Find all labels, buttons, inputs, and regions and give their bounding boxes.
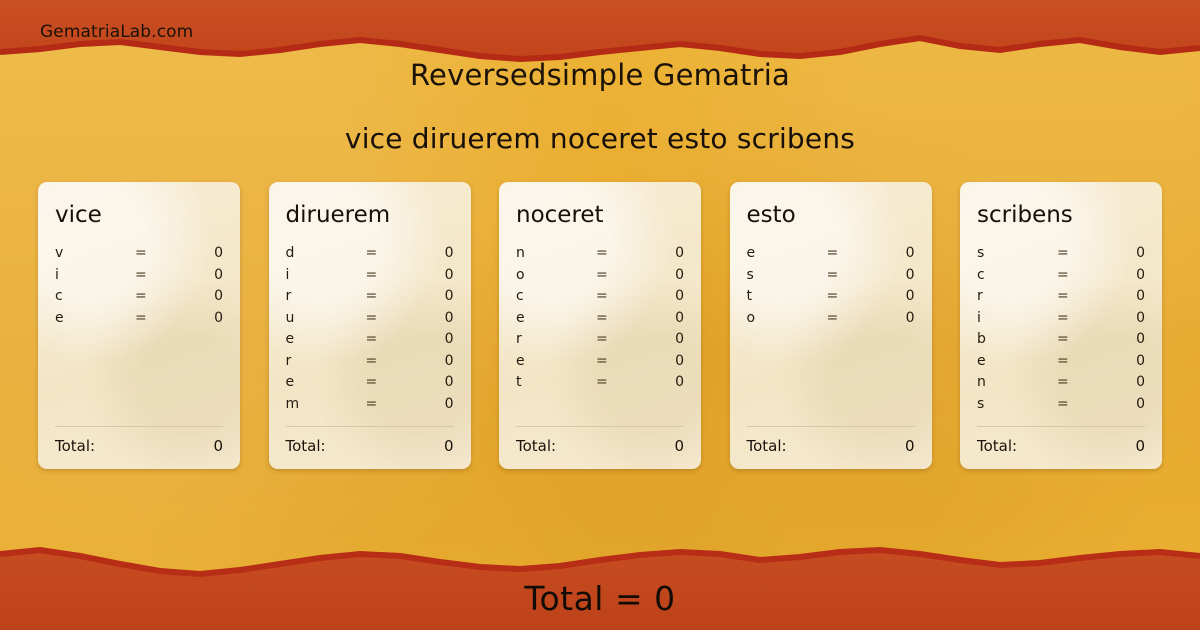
letter-char: r — [286, 288, 366, 304]
letter-value: 0 — [189, 288, 223, 304]
letter-char: c — [516, 288, 596, 304]
word-card-footer: Total:0 — [977, 426, 1145, 455]
equals-sign: = — [827, 310, 881, 326]
card-divider — [286, 426, 454, 427]
letter-char: o — [747, 310, 827, 326]
letter-value: 0 — [420, 353, 454, 369]
letter-value-row: m=0 — [286, 396, 454, 418]
letter-value-row: r=0 — [286, 288, 454, 310]
letter-char: i — [977, 310, 1057, 326]
equals-sign: = — [827, 245, 881, 261]
equals-sign: = — [596, 245, 650, 261]
card-total-label: Total: — [516, 437, 556, 455]
letter-value: 0 — [1111, 267, 1145, 283]
card-total-label: Total: — [55, 437, 95, 455]
equals-sign: = — [1057, 374, 1111, 390]
word-card-title: scribens — [977, 204, 1145, 227]
letter-value: 0 — [650, 267, 684, 283]
phrase-heading: vice diruerem noceret esto scribens — [0, 122, 1200, 155]
card-total-value: 0 — [905, 437, 915, 455]
letter-value-list: n=0o=0c=0e=0r=0e=0t=0 — [516, 245, 684, 396]
equals-sign: = — [596, 353, 650, 369]
letter-value-row: t=0 — [516, 374, 684, 396]
letter-char: r — [977, 288, 1057, 304]
site-logo[interactable]: GematriaLab.com — [40, 22, 193, 42]
letter-value-row: r=0 — [516, 331, 684, 353]
equals-sign: = — [596, 288, 650, 304]
letter-value: 0 — [650, 331, 684, 347]
letter-value-row: e=0 — [516, 353, 684, 375]
letter-value-row: r=0 — [286, 353, 454, 375]
card-divider — [747, 426, 915, 427]
equals-sign: = — [1057, 396, 1111, 412]
letter-value-row: c=0 — [977, 267, 1145, 289]
letter-value-row: c=0 — [516, 288, 684, 310]
card-total-label: Total: — [747, 437, 787, 455]
card-total-value: 0 — [444, 437, 454, 455]
gematria-result-card: GematriaLab.com Reversedsimple Gematria … — [0, 0, 1200, 630]
letter-value-row: o=0 — [516, 267, 684, 289]
equals-sign: = — [827, 288, 881, 304]
equals-sign: = — [366, 353, 420, 369]
letter-value: 0 — [420, 245, 454, 261]
letter-value-row: b=0 — [977, 331, 1145, 353]
letter-value: 0 — [420, 267, 454, 283]
letter-char: v — [55, 245, 135, 261]
equals-sign: = — [596, 374, 650, 390]
letter-char: c — [977, 267, 1057, 283]
letter-value-row: n=0 — [977, 374, 1145, 396]
card-total-row: Total:0 — [977, 437, 1145, 455]
letter-value-row: e=0 — [286, 374, 454, 396]
letter-value: 0 — [1111, 396, 1145, 412]
word-card-footer: Total:0 — [286, 426, 454, 455]
word-card: vicev=0i=0c=0e=0Total:0 — [38, 182, 240, 469]
card-total-row: Total:0 — [516, 437, 684, 455]
equals-sign: = — [366, 310, 420, 326]
letter-char: d — [286, 245, 366, 261]
letter-char: b — [977, 331, 1057, 347]
letter-char: e — [286, 374, 366, 390]
letter-char: e — [747, 245, 827, 261]
letter-char: e — [516, 310, 596, 326]
word-card: dirueremd=0i=0r=0u=0e=0r=0e=0m=0Total:0 — [269, 182, 471, 469]
letter-value: 0 — [650, 288, 684, 304]
letter-char: n — [977, 374, 1057, 390]
letter-char: e — [286, 331, 366, 347]
letter-value-row: s=0 — [977, 396, 1145, 418]
card-total-value: 0 — [213, 437, 223, 455]
letter-char: t — [516, 374, 596, 390]
equals-sign: = — [1057, 288, 1111, 304]
equals-sign: = — [366, 267, 420, 283]
letter-value-list: v=0i=0c=0e=0 — [55, 245, 223, 331]
letter-value-row: e=0 — [55, 310, 223, 332]
letter-value: 0 — [881, 245, 915, 261]
letter-value-row: e=0 — [286, 331, 454, 353]
equals-sign: = — [1057, 310, 1111, 326]
card-total-value: 0 — [674, 437, 684, 455]
card-total-row: Total:0 — [747, 437, 915, 455]
letter-value: 0 — [420, 396, 454, 412]
letter-value: 0 — [650, 353, 684, 369]
letter-value: 0 — [189, 310, 223, 326]
letter-char: m — [286, 396, 366, 412]
card-divider — [516, 426, 684, 427]
letter-value-list: s=0c=0r=0i=0b=0e=0n=0s=0 — [977, 245, 1145, 417]
letter-value-row: u=0 — [286, 310, 454, 332]
letter-value: 0 — [1111, 310, 1145, 326]
letter-value: 0 — [1111, 288, 1145, 304]
equals-sign: = — [1057, 245, 1111, 261]
letter-char: n — [516, 245, 596, 261]
letter-value: 0 — [189, 267, 223, 283]
equals-sign: = — [1057, 267, 1111, 283]
letter-char: s — [977, 396, 1057, 412]
letter-char: r — [286, 353, 366, 369]
word-card-footer: Total:0 — [516, 426, 684, 455]
word-card-title: diruerem — [286, 204, 454, 227]
letter-char: s — [747, 267, 827, 283]
page-title: Reversedsimple Gematria — [0, 58, 1200, 92]
card-total-label: Total: — [286, 437, 326, 455]
letter-char: c — [55, 288, 135, 304]
card-total-row: Total:0 — [286, 437, 454, 455]
letter-value: 0 — [1111, 331, 1145, 347]
equals-sign: = — [596, 267, 650, 283]
card-divider — [55, 426, 223, 427]
equals-sign: = — [366, 288, 420, 304]
letter-value: 0 — [650, 374, 684, 390]
equals-sign: = — [596, 310, 650, 326]
equals-sign: = — [1057, 353, 1111, 369]
equals-sign: = — [366, 245, 420, 261]
letter-value: 0 — [650, 310, 684, 326]
letter-value-row: o=0 — [747, 310, 915, 332]
equals-sign: = — [135, 288, 189, 304]
equals-sign: = — [135, 267, 189, 283]
equals-sign: = — [1057, 331, 1111, 347]
letter-value-row: t=0 — [747, 288, 915, 310]
equals-sign: = — [827, 267, 881, 283]
letter-char: e — [977, 353, 1057, 369]
letter-value-row: e=0 — [747, 245, 915, 267]
word-card: scribenss=0c=0r=0i=0b=0e=0n=0s=0Total:0 — [960, 182, 1162, 469]
letter-value-row: s=0 — [747, 267, 915, 289]
letter-char: e — [516, 353, 596, 369]
letter-value-list: d=0i=0r=0u=0e=0r=0e=0m=0 — [286, 245, 454, 417]
card-total-label: Total: — [977, 437, 1017, 455]
letter-char: o — [516, 267, 596, 283]
word-card-title: noceret — [516, 204, 684, 227]
word-card-list: vicev=0i=0c=0e=0Total:0dirueremd=0i=0r=0… — [38, 182, 1162, 469]
equals-sign: = — [366, 396, 420, 412]
letter-value: 0 — [881, 310, 915, 326]
card-total-row: Total:0 — [55, 437, 223, 455]
word-card-title: vice — [55, 204, 223, 227]
word-card-title: esto — [747, 204, 915, 227]
letter-value-row: d=0 — [286, 245, 454, 267]
equals-sign: = — [135, 245, 189, 261]
letter-char: t — [747, 288, 827, 304]
equals-sign: = — [135, 310, 189, 326]
word-card-footer: Total:0 — [55, 426, 223, 455]
letter-char: e — [55, 310, 135, 326]
letter-value-row: v=0 — [55, 245, 223, 267]
letter-char: s — [977, 245, 1057, 261]
letter-value: 0 — [1111, 374, 1145, 390]
letter-value-row: e=0 — [516, 310, 684, 332]
letter-value-row: r=0 — [977, 288, 1145, 310]
equals-sign: = — [366, 331, 420, 347]
card-total-value: 0 — [1135, 437, 1145, 455]
letter-value-row: i=0 — [55, 267, 223, 289]
letter-char: u — [286, 310, 366, 326]
equals-sign: = — [366, 374, 420, 390]
letter-char: i — [286, 267, 366, 283]
letter-value: 0 — [420, 374, 454, 390]
letter-value-row: e=0 — [977, 353, 1145, 375]
letter-value: 0 — [420, 288, 454, 304]
word-card: noceretn=0o=0c=0e=0r=0e=0t=0Total:0 — [499, 182, 701, 469]
letter-value-row: n=0 — [516, 245, 684, 267]
letter-value-row: i=0 — [977, 310, 1145, 332]
letter-value: 0 — [1111, 353, 1145, 369]
grand-total: Total = 0 — [0, 579, 1200, 618]
letter-value-row: s=0 — [977, 245, 1145, 267]
letter-value-row: c=0 — [55, 288, 223, 310]
letter-value: 0 — [650, 245, 684, 261]
letter-value: 0 — [1111, 245, 1145, 261]
letter-value: 0 — [189, 245, 223, 261]
word-card-footer: Total:0 — [747, 426, 915, 455]
letter-value: 0 — [881, 288, 915, 304]
letter-value: 0 — [420, 331, 454, 347]
letter-value: 0 — [881, 267, 915, 283]
letter-char: r — [516, 331, 596, 347]
card-divider — [977, 426, 1145, 427]
equals-sign: = — [596, 331, 650, 347]
letter-value-row: i=0 — [286, 267, 454, 289]
word-card: estoe=0s=0t=0o=0Total:0 — [730, 182, 932, 469]
letter-char: i — [55, 267, 135, 283]
letter-value-list: e=0s=0t=0o=0 — [747, 245, 915, 331]
letter-value: 0 — [420, 310, 454, 326]
